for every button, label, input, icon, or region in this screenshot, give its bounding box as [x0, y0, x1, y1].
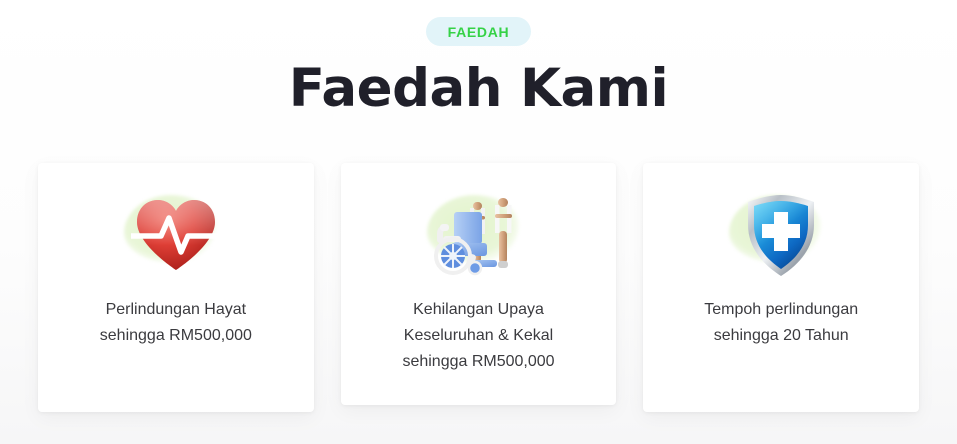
benefit-card-list: Perlindungan Hayat sehingga RM500,000	[38, 163, 919, 412]
benefit-card-text: Tempoh perlindungan sehingga 20 Tahun	[704, 297, 858, 349]
benefit-card[interactable]: Kehilangan Upaya Keseluruhan & Kekal seh…	[341, 163, 617, 405]
heart-pulse-icon	[131, 196, 221, 274]
benefit-line: sehingga RM500,000	[100, 323, 252, 349]
benefit-card-text: Kehilangan Upaya Keseluruhan & Kekal seh…	[402, 297, 554, 375]
benefit-card[interactable]: Tempoh perlindungan sehingga 20 Tahun	[643, 163, 919, 412]
benefit-line: sehingga 20 Tahun	[704, 323, 858, 349]
icon-container	[721, 189, 841, 281]
crutch-right-shape	[495, 198, 512, 268]
shield-cross-icon	[744, 192, 818, 278]
benefit-card[interactable]: Perlindungan Hayat sehingga RM500,000	[38, 163, 314, 412]
icon-container	[419, 189, 539, 281]
badge-row: FAEDAH	[0, 17, 957, 46]
benefit-card-text: Perlindungan Hayat sehingga RM500,000	[100, 297, 252, 349]
benefit-line: Tempoh perlindungan	[704, 297, 858, 323]
wheelchair-crutches-icon	[427, 194, 531, 276]
benefit-line: Keseluruhan & Kekal	[402, 323, 554, 349]
icon-container	[116, 189, 236, 281]
section-badge: FAEDAH	[426, 17, 532, 46]
page-title: Faedah Kami	[0, 58, 957, 120]
benefit-line: sehingga RM500,000	[402, 349, 554, 375]
benefits-section: FAEDAH Faedah Kami	[0, 0, 957, 444]
benefit-line: Kehilangan Upaya	[402, 297, 554, 323]
benefit-line: Perlindungan Hayat	[100, 297, 252, 323]
